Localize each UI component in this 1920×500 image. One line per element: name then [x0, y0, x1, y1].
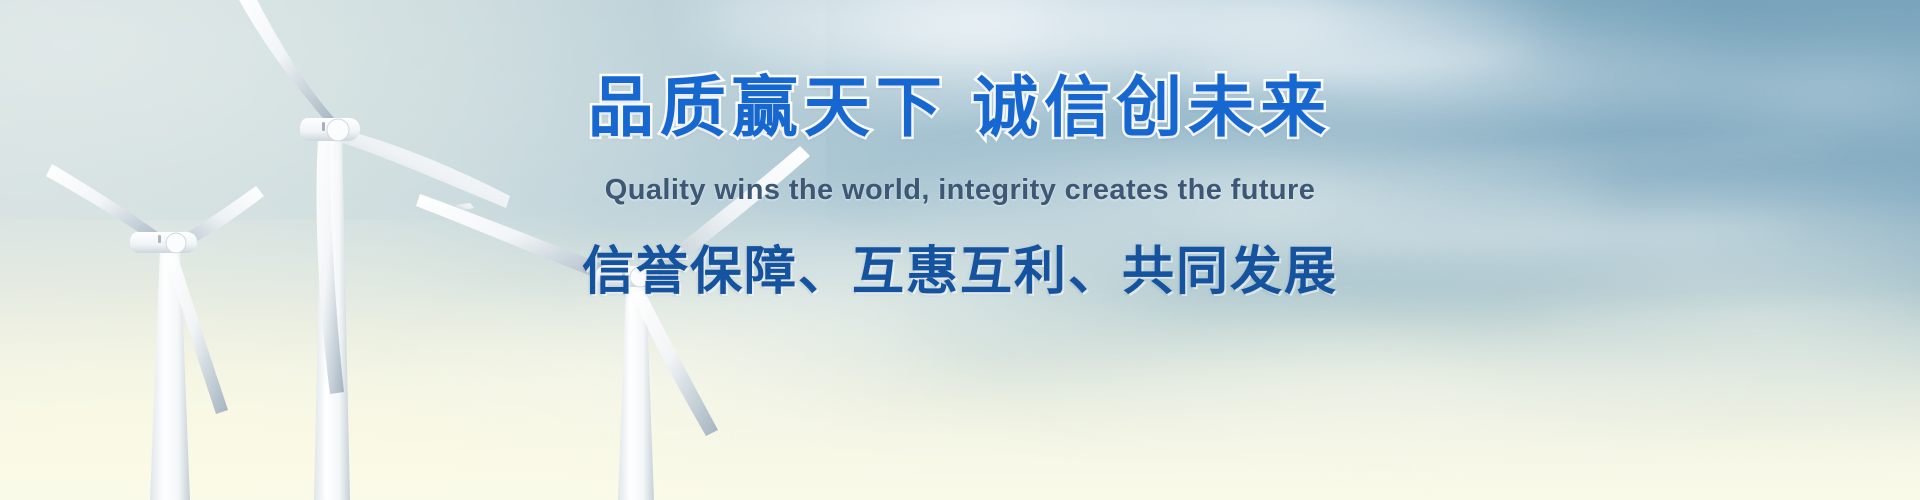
wind-turbine-mid — [416, 146, 810, 500]
wind-turbine-center — [236, 0, 510, 500]
promo-banner: 品质赢天下 诚信创未来 Quality wins the world, inte… — [0, 0, 1920, 500]
wind-turbine-left — [46, 164, 264, 500]
wind-turbine-group — [0, 0, 1920, 500]
